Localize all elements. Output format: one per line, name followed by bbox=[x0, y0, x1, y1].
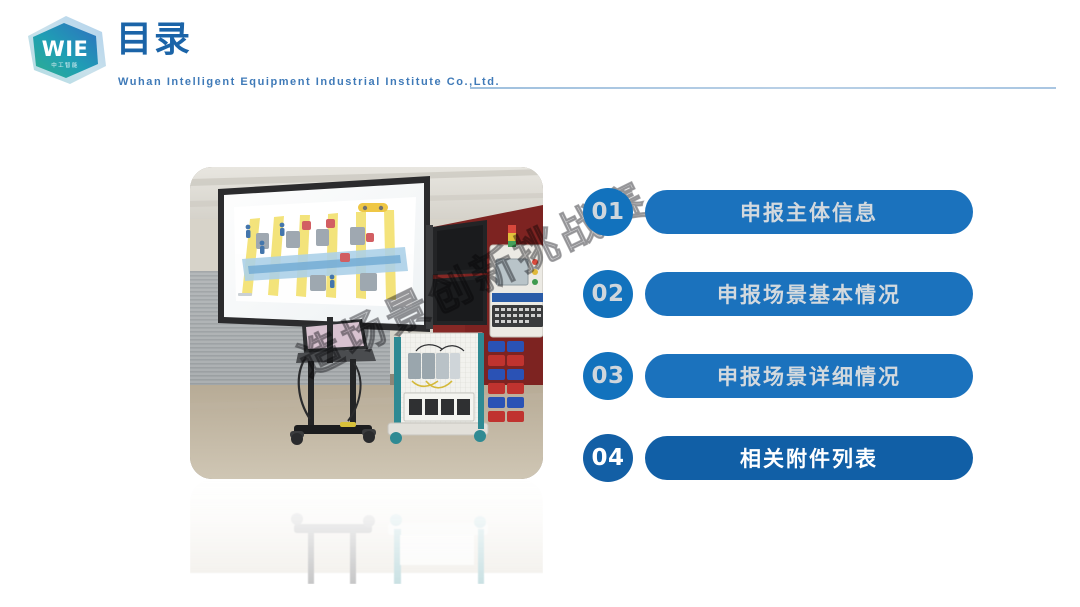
toc-item-02[interactable]: 02 申报场景基本情况 bbox=[583, 270, 973, 318]
toc-item-04[interactable]: 04 相关附件列表 bbox=[583, 434, 973, 482]
slide-header: WIE 中工智能 目录 Wuhan Intelligent Equipment … bbox=[0, 0, 1080, 105]
slide-root: WIE 中工智能 目录 Wuhan Intelligent Equipment … bbox=[0, 0, 1080, 607]
toc-number-badge: 01 bbox=[583, 188, 633, 236]
toc-item-03[interactable]: 03 申报场景详细情况 bbox=[583, 352, 973, 400]
wie-logo-icon: WIE 中工智能 bbox=[22, 12, 110, 88]
photo-reflection bbox=[190, 479, 543, 584]
factory-lab-photo bbox=[190, 167, 543, 479]
toc-list: 01 申报主体信息 02 申报场景基本情况 03 申报场景详细情况 04 相关附… bbox=[583, 188, 973, 488]
toc-item-label[interactable]: 申报场景基本情况 bbox=[645, 272, 973, 316]
factory-lab-photo-wrap bbox=[190, 167, 543, 479]
toc-item-label[interactable]: 申报场景详细情况 bbox=[645, 354, 973, 398]
toc-number-badge: 02 bbox=[583, 270, 633, 318]
toc-item-label[interactable]: 申报主体信息 bbox=[645, 190, 973, 234]
toc-item-label[interactable]: 相关附件列表 bbox=[645, 436, 973, 480]
page-title-block: 目录 bbox=[116, 18, 192, 62]
svg-text:中工智能: 中工智能 bbox=[51, 61, 79, 69]
page-title: 目录 bbox=[116, 18, 192, 62]
toc-number-badge: 03 bbox=[583, 352, 633, 400]
svg-text:WIE: WIE bbox=[42, 37, 89, 61]
header-divider bbox=[470, 87, 1056, 89]
toc-number-badge: 04 bbox=[583, 434, 633, 482]
company-name-subtitle: Wuhan Intelligent Equipment Industrial I… bbox=[118, 76, 500, 88]
toc-item-01[interactable]: 01 申报主体信息 bbox=[583, 188, 973, 236]
